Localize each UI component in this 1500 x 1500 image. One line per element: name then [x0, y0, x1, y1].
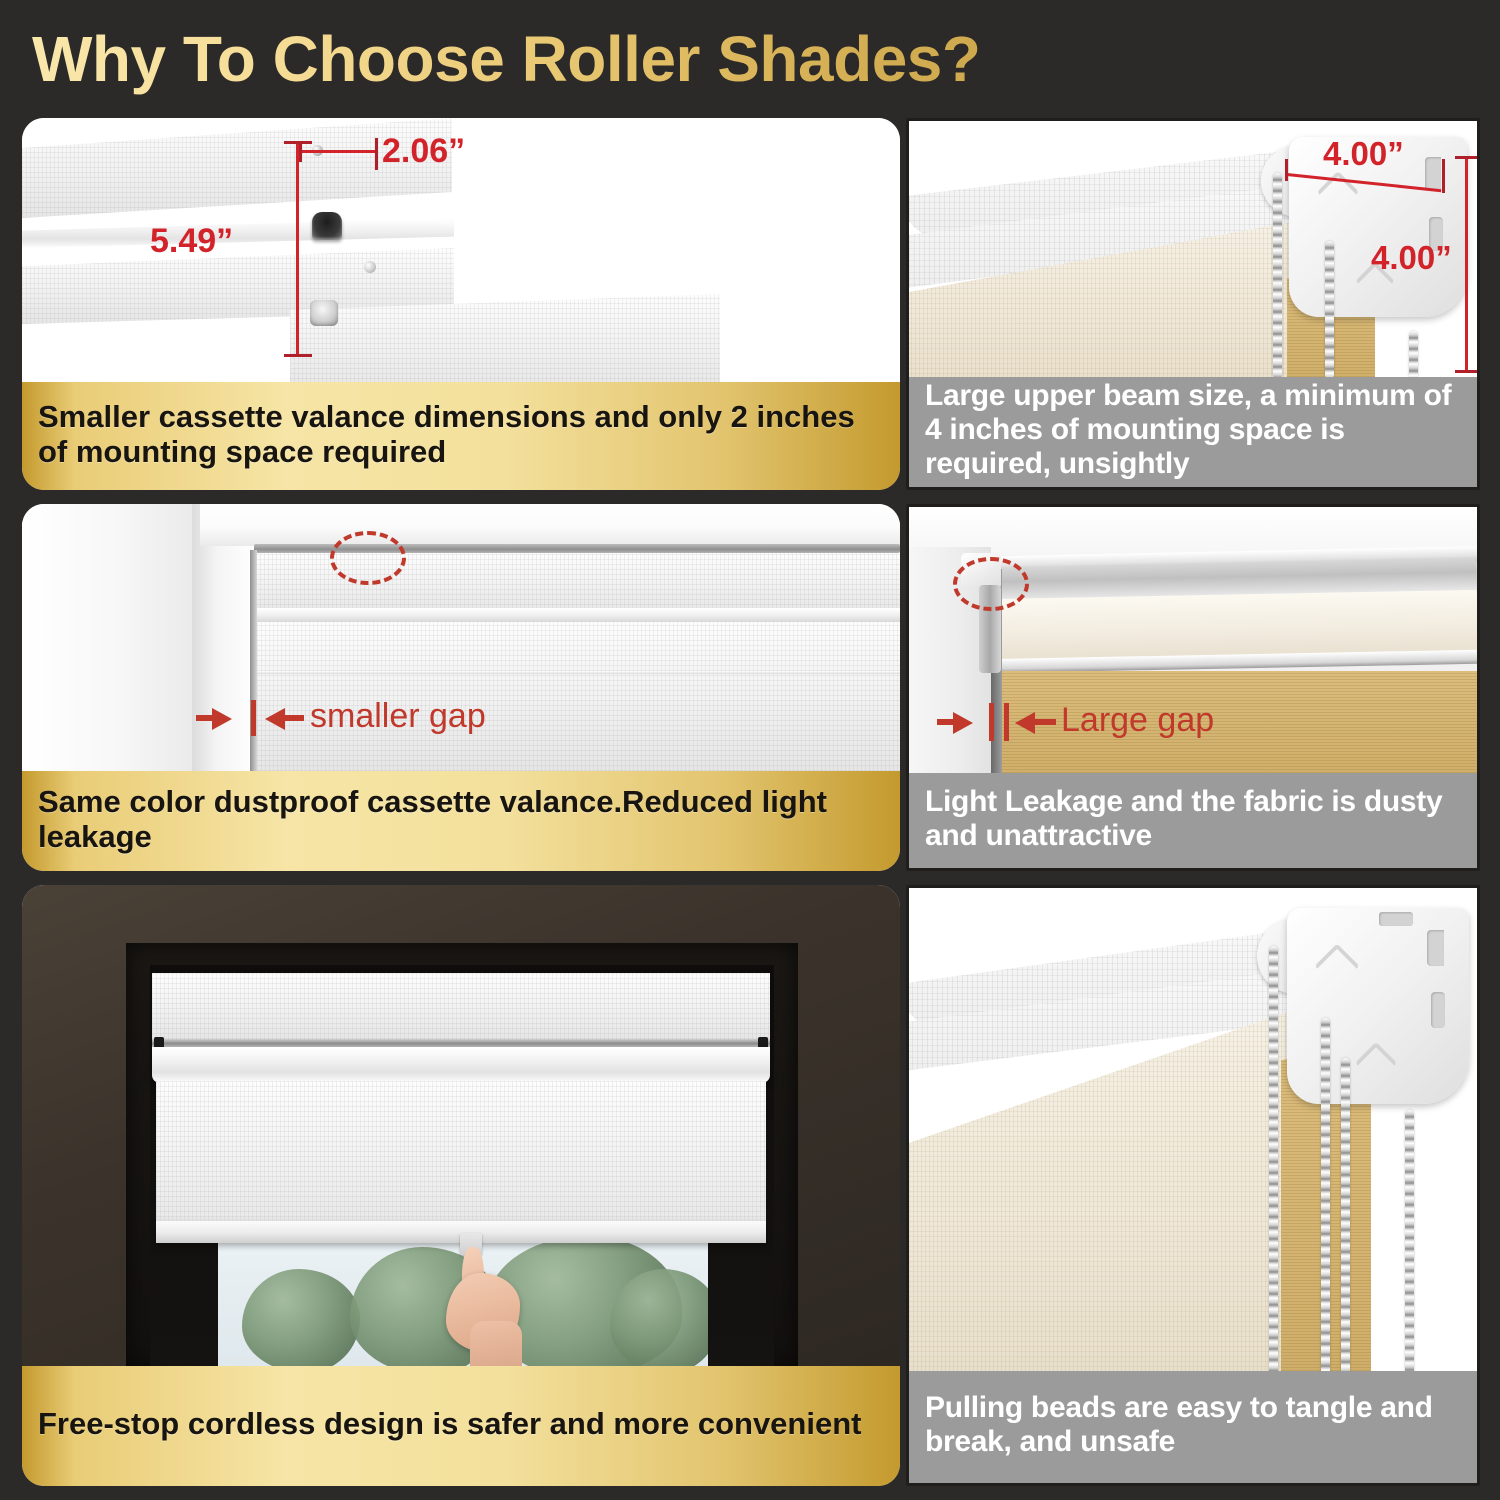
- bead-chain-right: [1409, 331, 1418, 377]
- bead-chain-left: [1273, 173, 1282, 377]
- caption-cordless-design: Free-stop cordless design is safer and m…: [22, 1366, 900, 1486]
- caption-text: Free-stop cordless design is safer and m…: [38, 1406, 861, 1441]
- beam-height-tick-bottom: [1455, 370, 1477, 373]
- caption-dustproof-cassette: Same color dustproof cassette valance.Re…: [22, 771, 900, 871]
- panel-smaller-cassette: 2.06” 5.49” Smaller cassette valance dim…: [22, 118, 900, 490]
- bracket-slot-middle: [1431, 992, 1445, 1028]
- beam-width-tick-left: [1285, 159, 1288, 181]
- gap-marker-bar-left: [989, 703, 994, 741]
- gap-marker-bar: [251, 700, 256, 736]
- gap-arrow-right-stem: [1034, 719, 1056, 725]
- beam-height-dimension-line: [1465, 157, 1468, 373]
- width-dimension-tick-left: [299, 142, 302, 162]
- end-cap-screw-icon: [364, 261, 376, 273]
- panel-pulling-beads: Pulling beads are easy to tangle and bre…: [906, 885, 1480, 1486]
- bracket-slot-top: [1425, 157, 1441, 191]
- caption-smaller-cassette: Smaller cassette valance dimensions and …: [22, 382, 900, 490]
- caption-text: Large upper beam size, a minimum of 4 in…: [925, 379, 1461, 481]
- highlight-ellipse: [330, 531, 406, 585]
- beam-height-tick-top: [1455, 156, 1477, 159]
- gap-arrow-right-icon: [1015, 712, 1035, 734]
- window-casing-left: [22, 504, 200, 771]
- hanging-fabric: [290, 294, 720, 390]
- end-cap-bracket-screw-icon: [310, 300, 338, 326]
- photo-pulling-beads: [909, 888, 1477, 1377]
- photo-large-beam: 4.00” 4.00”: [909, 121, 1477, 377]
- bracket-slot-top: [1427, 930, 1444, 966]
- shade-fabric-main: [156, 1081, 766, 1237]
- panel-light-leakage: Large gap Light Leakage and the fabric i…: [906, 504, 1480, 871]
- valance-bottom-edge: [256, 608, 900, 622]
- panel-dustproof-cassette: smaller gap Same color dustproof cassett…: [22, 504, 900, 871]
- bead-chain-left: [1269, 946, 1278, 1377]
- beam-width-dimension-label: 4.00”: [1323, 135, 1404, 173]
- fabric-fold-line: [257, 671, 900, 674]
- panel-large-upper-beam: 4.00” 4.00” Large upper beam size, a min…: [906, 118, 1480, 490]
- caption-text: Same color dustproof cassette valance.Re…: [38, 784, 884, 854]
- smaller-gap-annotation: smaller gap: [310, 697, 486, 736]
- photo-cordless-window: [22, 885, 900, 1366]
- caption-text: Smaller cassette valance dimensions and …: [38, 399, 884, 469]
- valance-lower-lip: [152, 1047, 770, 1083]
- forearm: [470, 1321, 522, 1366]
- bead-chain-middle: [1321, 1018, 1330, 1377]
- width-dimension-tick-right: [375, 138, 378, 170]
- gap-arrow-left-stem: [196, 715, 216, 721]
- gap-arrow-right-icon: [265, 708, 285, 730]
- bracket-slot-notch: [1379, 912, 1413, 926]
- beam-height-dimension-label: 4.00”: [1371, 239, 1452, 277]
- caption-light-leakage: Light Leakage and the fabric is dusty an…: [909, 773, 1477, 868]
- valance-cassette: [152, 973, 770, 1039]
- tree-left: [242, 1269, 360, 1366]
- photo-light-leakage: Large gap: [909, 507, 1477, 779]
- beam-width-tick-right: [1442, 159, 1445, 193]
- gap-arrow-left-stem: [937, 719, 957, 725]
- smaller-gap-strip: [250, 550, 257, 771]
- end-cap-slot-icon: [312, 212, 342, 240]
- caption-text: Pulling beads are easy to tangle and bre…: [925, 1391, 1461, 1459]
- height-dimension-tick-top: [284, 141, 312, 144]
- bead-chain-right: [1405, 1110, 1414, 1377]
- infographic-page: Why To Choose Roller Shades?: [0, 0, 1500, 1500]
- panel-cordless-design: Free-stop cordless design is safer and m…: [22, 885, 900, 1486]
- cassette-end-cap: [22, 324, 120, 390]
- height-dimension-tick-bottom: [284, 354, 312, 357]
- width-dimension-label: 2.06”: [382, 132, 465, 171]
- bead-chain-inner: [1341, 1058, 1350, 1377]
- caption-large-upper-beam: Large upper beam size, a minimum of 4 in…: [909, 377, 1477, 487]
- height-dimension-vline: [296, 142, 299, 357]
- caption-pulling-beads: Pulling beads are easy to tangle and bre…: [909, 1371, 1477, 1483]
- gap-marker-bar-right: [1004, 703, 1009, 741]
- photo-cassette-valance: 2.06” 5.49”: [22, 118, 900, 390]
- photo-dustproof-cassette: smaller gap: [22, 504, 900, 771]
- window-casing-top: [200, 504, 900, 546]
- page-title: Why To Choose Roller Shades?: [32, 18, 1092, 100]
- panel-grid: 2.06” 5.49” Smaller cassette valance dim…: [22, 118, 1480, 1486]
- large-gap-annotation: Large gap: [1061, 701, 1214, 740]
- cassette-valance-lip: [22, 218, 454, 248]
- height-dimension-label: 5.49”: [150, 222, 233, 261]
- width-dimension-line: [300, 150, 378, 153]
- bead-chain-middle: [1325, 241, 1334, 377]
- gap-arrow-right-stem: [284, 715, 304, 721]
- highlight-ellipse: [953, 557, 1029, 611]
- caption-text: Light Leakage and the fabric is dusty an…: [925, 785, 1461, 853]
